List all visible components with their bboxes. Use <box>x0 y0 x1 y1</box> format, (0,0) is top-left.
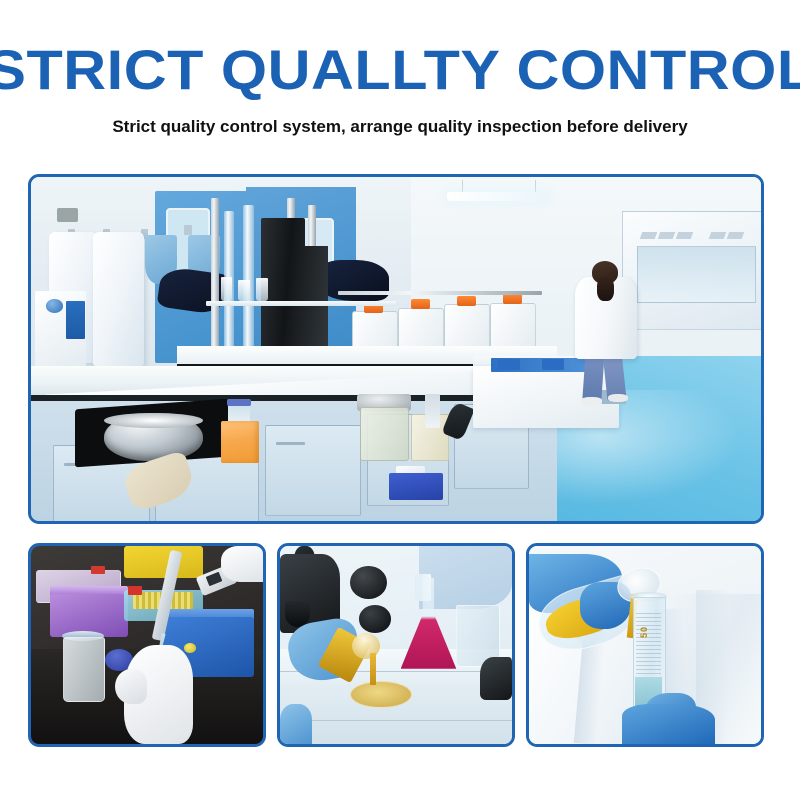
dark-equipment <box>480 657 512 701</box>
quality-control-banner: STRICT QUALLTY CONTROL Strict quality co… <box>0 0 800 800</box>
amber-reagent-bottle <box>221 421 259 462</box>
lab-coat <box>93 232 144 366</box>
page-subtitle: Strict quality control system, arrange q… <box>0 117 800 137</box>
wall-panel <box>57 208 79 222</box>
glassware <box>238 280 250 301</box>
lab-scene <box>31 177 761 521</box>
blue-bin <box>389 473 444 501</box>
overhead-rail <box>338 291 542 296</box>
page-title: STRICT QUALLTY CONTROL <box>0 42 800 98</box>
jug-cap <box>411 299 430 309</box>
blue-gloved-hand <box>622 704 715 744</box>
person-shoe <box>608 394 628 402</box>
shelf <box>206 301 396 307</box>
bowl-rim <box>104 413 203 428</box>
glass-jar <box>63 637 104 702</box>
hood-vent-slat <box>639 232 656 239</box>
thumb-graduated-cylinder[interactable]: 50 <box>526 543 764 747</box>
hood-vent-slat <box>727 232 744 239</box>
label-sticker <box>91 566 105 574</box>
glassware <box>256 278 268 300</box>
reagent-jug <box>490 303 536 350</box>
cabinet-handle[interactable] <box>276 442 305 445</box>
steel-rod <box>211 198 219 370</box>
person-shoe <box>581 397 601 406</box>
jug-cap <box>457 296 476 306</box>
bottle-cap <box>227 399 250 407</box>
thumb-pipetting[interactable] <box>28 543 266 747</box>
hood-sash-window <box>637 246 756 303</box>
purifier-dial <box>46 299 64 313</box>
petri-dish <box>350 681 412 709</box>
hood-vent-slat <box>658 232 675 239</box>
cylinder-volume-mark: 50 <box>639 626 649 638</box>
reagent-jug <box>444 304 490 351</box>
glass-jar <box>360 407 409 461</box>
hood-vent-slat <box>676 232 693 239</box>
pouring-petri-scene <box>280 546 512 744</box>
main-lab-photo[interactable] <box>28 174 764 524</box>
test-tube <box>425 394 440 428</box>
glassware <box>221 277 233 301</box>
blue-pan <box>542 359 564 369</box>
image-gallery: 50 <box>28 174 764 747</box>
blue-pan <box>498 359 520 369</box>
blue-gloved-hand <box>280 704 312 744</box>
cylinder-graduations <box>636 613 662 676</box>
coat-hook <box>184 225 191 235</box>
pour-stream <box>370 653 376 685</box>
cabinet-door <box>265 425 362 516</box>
header: STRICT QUALLTY CONTROL Strict quality co… <box>0 0 800 137</box>
pipetting-scene <box>31 546 263 744</box>
table-seam <box>280 720 512 721</box>
gloved-hand <box>221 546 263 582</box>
purifier-panel <box>66 301 85 339</box>
glove-thumb <box>115 669 147 705</box>
jug-cap <box>503 294 522 304</box>
microscope-knob <box>350 566 387 600</box>
graduated-cylinder-scene: 50 <box>529 546 761 744</box>
thumbnail-row: 50 <box>28 543 764 747</box>
label-sticker <box>128 586 142 596</box>
yellow-pipette-tip <box>184 643 196 653</box>
hood-vent-slat <box>709 232 726 239</box>
yellow-container <box>124 546 203 578</box>
person-leg <box>583 352 605 401</box>
technician-hair <box>597 277 613 301</box>
thumb-pouring-petri[interactable] <box>277 543 515 747</box>
fluorescent-light <box>447 192 549 201</box>
